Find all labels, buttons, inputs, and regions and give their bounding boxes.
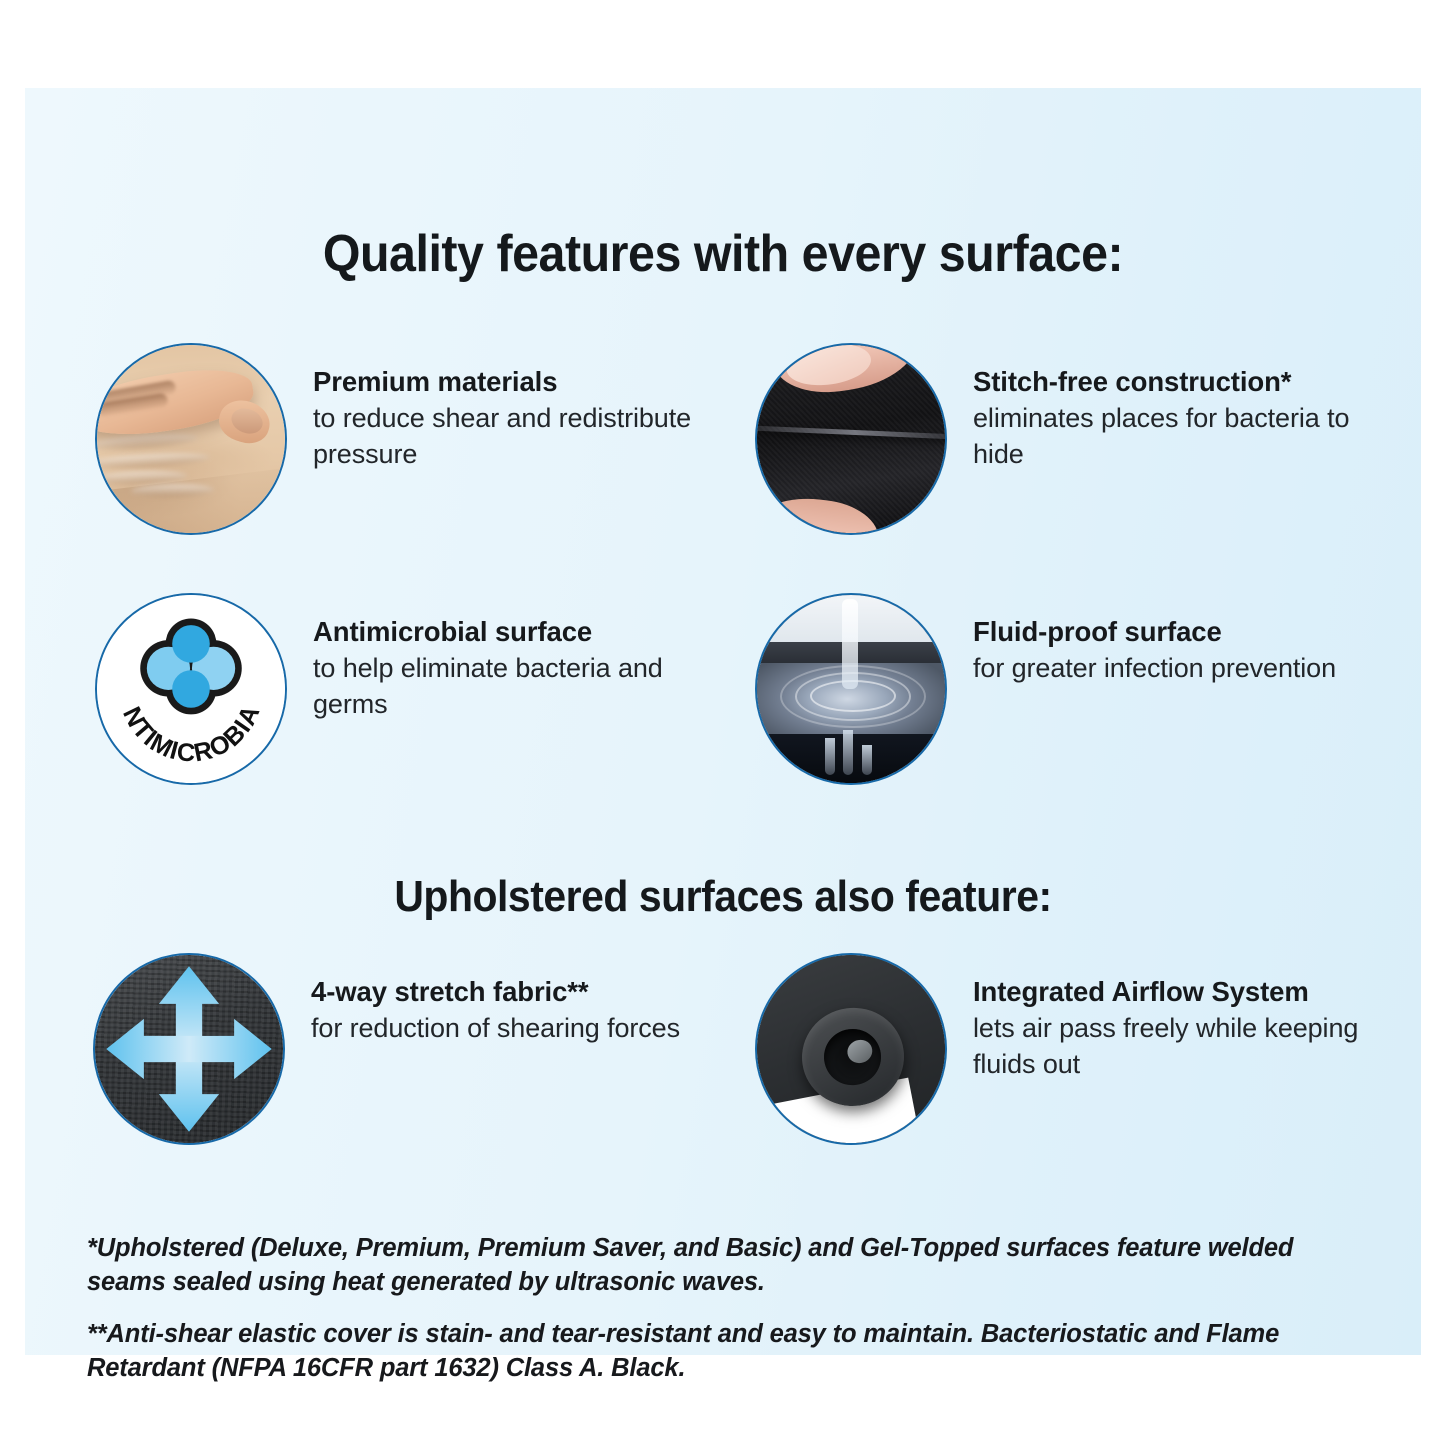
feature-title: Premium materials xyxy=(313,365,723,399)
feature-description: eliminates places for bacteria to hide xyxy=(973,400,1383,473)
infographic-page: Quality features with every surface: xyxy=(0,0,1445,1445)
feature-stitch-free-construction: Stitch-free construction* eliminates pla… xyxy=(755,343,1383,535)
feature-text: Stitch-free construction* eliminates pla… xyxy=(973,343,1383,472)
feature-text: Integrated Airflow System lets air pass … xyxy=(973,953,1383,1082)
feature-description: for greater infection prevention xyxy=(973,650,1336,686)
feature-text: Antimicrobial surface to help eliminate … xyxy=(313,593,723,722)
feature-text: Premium materials to reduce shear and re… xyxy=(313,343,723,472)
airflow-grommet-photo xyxy=(755,953,947,1145)
footnote-upholstered-welded-seams: *Upholstered (Deluxe, Premium, Premium S… xyxy=(87,1231,1377,1299)
feature-title: Antimicrobial surface xyxy=(313,615,723,649)
water-splash-photo xyxy=(755,593,947,785)
antimicrobial-logo: ANTIMICROBIAL xyxy=(95,593,287,785)
memory-foam-hand-photo xyxy=(95,343,287,535)
feature-title: Integrated Airflow System xyxy=(973,975,1383,1009)
feature-fluid-proof-surface: Fluid-proof surface for greater infectio… xyxy=(755,593,1336,785)
antimicrobial-icon: ANTIMICROBIAL xyxy=(97,595,285,783)
four-way-arrows-icon xyxy=(93,953,285,1145)
feature-description: to reduce shear and redistribute pressur… xyxy=(313,400,723,473)
section-title-upholstered: Upholstered surfaces also feature: xyxy=(74,872,1372,922)
feature-premium-materials: Premium materials to reduce shear and re… xyxy=(95,343,723,535)
content-panel: Quality features with every surface: xyxy=(25,88,1421,1355)
footnotes: *Upholstered (Deluxe, Premium, Premium S… xyxy=(87,1231,1377,1386)
four-way-arrow-glyph xyxy=(95,955,283,1143)
feature-integrated-airflow-system: Integrated Airflow System lets air pass … xyxy=(755,953,1383,1145)
feature-antimicrobial-surface: ANTIMICROBIAL Antimicrobial surface to h… xyxy=(95,593,723,785)
footnote-anti-shear-cover: **Anti-shear elastic cover is stain- and… xyxy=(87,1317,1377,1385)
feature-title: Fluid-proof surface xyxy=(973,615,1336,649)
feature-description: to help eliminate bacteria and germs xyxy=(313,650,723,723)
feature-text: Fluid-proof surface for greater infectio… xyxy=(973,593,1336,686)
feature-title: 4-way stretch fabric** xyxy=(311,975,680,1009)
feature-description: lets air pass freely while keeping fluid… xyxy=(973,1010,1383,1083)
feature-text: 4-way stretch fabric** for reduction of … xyxy=(311,953,680,1046)
page-title: Quality features with every surface: xyxy=(74,224,1372,284)
stitch-free-seam-photo xyxy=(755,343,947,535)
feature-title: Stitch-free construction* xyxy=(973,365,1383,399)
feature-description: for reduction of shearing forces xyxy=(311,1010,680,1046)
feature-four-way-stretch-fabric: 4-way stretch fabric** for reduction of … xyxy=(93,953,680,1145)
